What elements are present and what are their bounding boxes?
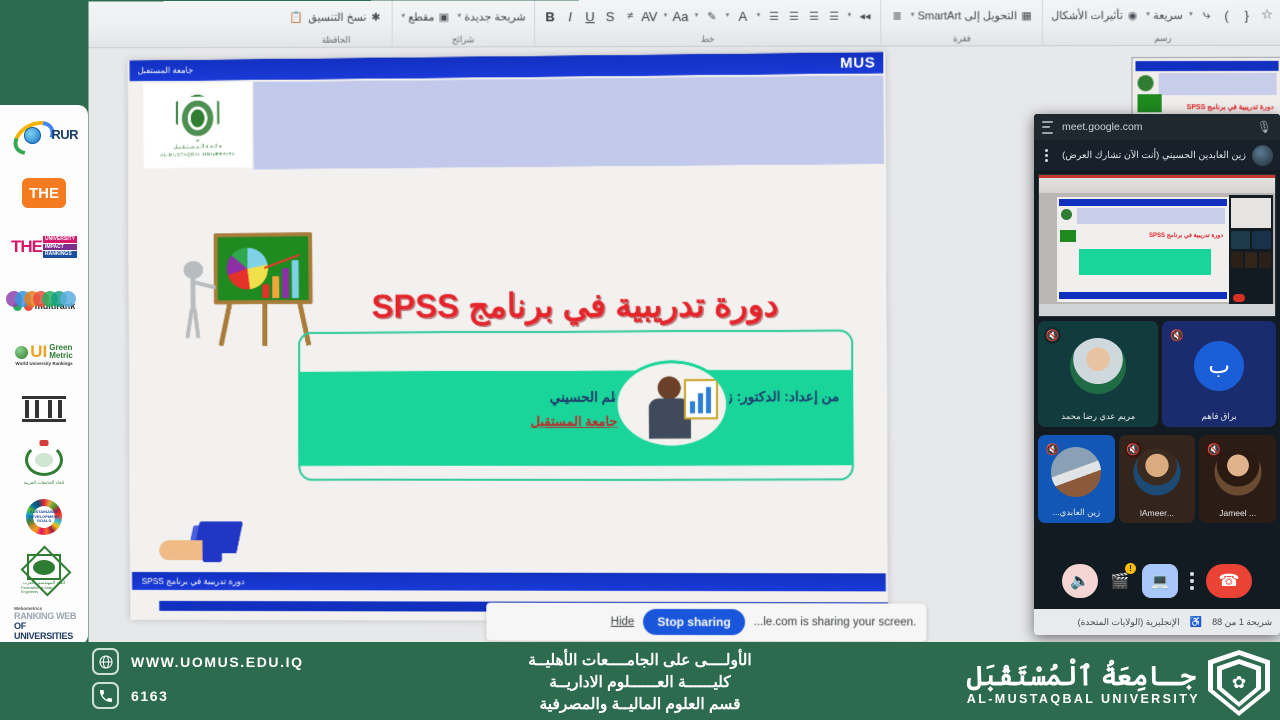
site-settings-icon[interactable] [1042,121,1055,134]
format-painter-button[interactable]: ✱ نسخ التنسيق [308,9,383,24]
participant-tile[interactable]: 🔇 زين العابدي... [1038,435,1115,523]
university-shield-icon: ✿ [1208,650,1270,716]
section-button[interactable]: ▣ مقطع ▼ [400,9,451,24]
participant-name: مريم عدي رضا محمد [1038,411,1158,422]
slide-university-logo: جـامعـة الـمـسـتـقـبـل AL-MUSTAQBAL UNIV… [143,82,251,168]
arab-universities-logo: اتحاد الجامعات العربية [8,439,80,487]
slide-header-badge: MUS [840,54,875,72]
presenter-avatar [1252,145,1273,166]
slide-blue-band [253,75,884,169]
temple-icon [8,385,80,433]
share-message: ...le.com is sharing your screen. [754,616,917,628]
slide-affiliation: جامعة المستقبل [298,413,853,430]
arab-universities-label: اتحاد الجامعات العربية [24,480,65,486]
shape-effects-icon: ◉ [1125,7,1140,22]
slide-logo-ar: جـامعـة الـمـسـتـقـبـل [173,143,222,149]
webometrics-w3: OF UNIVERSITIES [14,621,80,641]
stop-sharing-button[interactable]: Stop sharing [643,609,744,635]
shared-screen-preview[interactable]: دورة تدريبية في برنامج SPSS [1038,174,1276,317]
section-icon: ▣ [436,9,451,24]
shape-effects-button[interactable]: ◉ تأثيرات الأشكال [1051,7,1140,22]
shape-curve-icon[interactable]: { [1239,7,1254,22]
avatar [1134,448,1181,495]
avatar [1214,448,1261,495]
smartart-label: التحويل إلى SmartArt [918,9,1017,22]
participants-row-2: 🔇 زين العابدي... 🔇 ...lAmeer 🔇 ... Jamee… [1034,431,1280,527]
avatar [1051,447,1101,497]
powerpoint-status-bar: شريحة 1 من 88 ♿ الإنجليزية (الولايات الم… [1034,609,1280,635]
meet-url-text: meet.google.com [1062,121,1250,133]
ui-greenmetric-logo: UI Green Metric World University Ranking… [8,331,80,379]
the-impact-rankings-logo: THE UNIVERSITY IMPACT RANKINGS [8,223,80,271]
present-screen-button[interactable]: 💻 [1142,564,1178,598]
multirank-logo: multirank [8,277,80,325]
section-label: مقطع [408,10,434,23]
participants-row-1: 🔇 مريم عدي رضا محمد 🔇 ب براق فاهم [1034,317,1280,431]
ribbon-group-clipboard-label: الحافظة [322,35,350,48]
university-name-en: AL-MUSTAQBAL UNIVERSITY [967,692,1200,706]
paste-button[interactable]: 📋 [288,9,303,24]
align-left-icon[interactable]: ☰ [826,8,841,23]
mic-off-icon: 🔇 [1168,327,1185,344]
sdg-label: SUSTAINABLE DEVELOPMENT GOALS [29,510,59,524]
ribbon-group-drawing-label: رسم [1154,33,1171,46]
format-painter-label: نسخ التنسيق [308,10,366,23]
mic-toggle-button[interactable]: 🔈 [1062,564,1098,598]
slide-footer-text: دورة تدريبية في برنامج SPSS [142,576,245,587]
arab-engineers-logo: اتحاد المهندسين العرب Federation of Arab… [8,547,80,601]
greenmetric-sub: World University Rankings [15,361,72,366]
rtl-text-icon[interactable]: ◂◂ [857,8,872,23]
participant-tile[interactable]: 🔇 ... Jameel [1199,435,1276,523]
slide-footer-bar: دورة تدريبية في برنامج SPSS [132,572,886,591]
slide-header-right-text: جامعة المستقبل [138,65,194,77]
shape-effects-label: تأثيرات الأشكال [1051,8,1123,21]
align-right-icon[interactable]: ☰ [786,8,801,23]
current-slide[interactable]: جامعة المستقبل MUS جـامعـة الـمـسـتـقـبـ… [128,52,888,622]
hang-up-button[interactable]: ☎ [1206,564,1252,598]
sdg-goals-logo: SUSTAINABLE DEVELOPMENT GOALS [8,493,80,541]
shapes-gallery-icon[interactable]: ☆ [1259,7,1274,22]
text-shadow-icon[interactable]: S [603,9,618,24]
meet-control-bar: 🔈 ! 🎬 💻 ☎ [1034,555,1280,607]
convert-to-smartart-button[interactable]: ▦ التحويل إلى SmartArt ▼ [910,8,1034,23]
shapes-more-chevron-icon[interactable]: ▼ [1188,12,1194,18]
new-slide-button[interactable]: شريحة جديدة ▼ [456,10,525,23]
slide-count-label: شريحة 1 من 88 [1212,617,1272,628]
italic-icon[interactable]: I [563,9,578,24]
bold-icon[interactable]: B [543,9,558,24]
the-impact-line2: IMPACT [43,244,77,251]
shape-arrow-icon[interactable]: ⤷ [1199,7,1214,22]
the-logo: THE [8,169,80,217]
google-meet-window[interactable]: meet.google.com 🎙 زين العابدين الحسيني (… [1034,114,1280,635]
presenter-name: زين العابدين الحسيني (أنت الآن تشارك الع… [1058,150,1246,161]
university-brand: ✿ جـامِعَةُ ٱلْمُسْتَقْبَل AL-MUSTAQBAL … [967,650,1270,716]
mic-off-icon: 🔇 [1044,327,1061,344]
participant-tile[interactable]: 🔇 مريم عدي رضا محمد [1038,321,1158,427]
text-highlight-icon[interactable]: ✎ [704,8,719,23]
slide-author-banner: من إعداد: الدكتور: زين العابدين عبود كاظ… [298,370,854,466]
presenter-more-icon[interactable] [1041,149,1052,162]
rur-label: RUR [51,127,78,142]
align-center-icon[interactable]: ☰ [806,8,821,23]
participant-tile[interactable]: 🔇 ب براق فاهم [1162,321,1276,427]
ribbon-group-font-label: خط [701,34,714,47]
accessibility-icon[interactable]: ♿ [1190,617,1202,628]
font-color-icon[interactable]: A [735,8,750,23]
the-impact-line3: RANKINGS [43,251,77,258]
participant-name: زين العابدي... [1038,507,1115,518]
avatar [1070,338,1126,394]
meet-presenter-bar: زين العابدين الحسيني (أنت الآن تشارك الع… [1034,140,1280,170]
screen-share-notification: Hide Stop sharing ...le.com is sharing y… [486,603,926,642]
paste-icon: 📋 [288,9,303,24]
shared-preview-title: دورة تدريبية في برنامج SPSS [1149,232,1223,239]
camera-warning-badge: ! [1125,563,1136,574]
ribbon-group-slides-label: شرائح [452,34,474,47]
presenter-illustration [614,360,729,449]
the-impact-line1: UNIVERSITY [43,236,77,243]
ribbon-group-clipboard: ✱ نسخ التنسيق 📋 الحافظة [281,1,392,48]
ribbon-group-font: ◂◂ ▼ ☰ ☰ ☰ ☰ ▼ A ▼ ✎ ▼ Aa ▼ AV ≠ [534,0,881,47]
quick-styles-label: سريعة [1153,8,1183,21]
ribbon-group-paragraph-label: فقرة [953,33,971,46]
greenmetric-ui: UI [30,345,47,359]
avatar-initial: ب [1194,341,1244,391]
language-label[interactable]: الإنجليزية (الولايات المتحدة) [1078,617,1180,628]
screenshot-root: RUR THE THE UNIVERSITY IMPACT RANKINGS [0,0,1280,720]
clear-formatting-icon[interactable]: ≠ [623,9,638,24]
justify-icon[interactable]: ☰ [766,8,781,23]
more-options-button[interactable] [1186,572,1198,590]
participant-name: ...lAmeer [1119,508,1196,518]
meet-url-bar[interactable]: meet.google.com 🎙 [1034,114,1280,140]
format-painter-icon: ✱ [368,9,383,24]
ppt-ribbon: ☆ { ) ⤷ ▼ سريعة ▼ ◉ تأثيرات الأشكال [89,0,1280,48]
the-impact-mark: THE [11,237,42,257]
quick-styles-button[interactable]: سريعة ▼ [1145,8,1183,21]
slide-title: دورة تدريبية في برنامج SPSS [296,286,856,325]
the-label: THE [22,178,66,208]
participant-tile[interactable]: 🔇 ...lAmeer [1119,435,1196,523]
camera-toggle-button[interactable]: ! 🎬 [1106,566,1134,596]
webometrics-w2: RANKING WEB [14,611,80,621]
hand-book-illustration [159,519,248,569]
slide-logo-en: AL-MUSTAQBAL UNIVERSITY [160,151,235,157]
smartart-icon: ▦ [1019,8,1034,23]
rankings-sidebar: RUR THE THE UNIVERSITY IMPACT RANKINGS [0,105,88,645]
greenmetric-metric: Metric [49,352,73,360]
mini-preview-title: دورة تدريبية في برنامج SPSS [1187,103,1274,111]
shape-brace-icon[interactable]: ) [1219,7,1234,22]
character-spacing-icon[interactable]: AV [643,9,658,24]
presenter-figure-icon [180,261,210,342]
change-case-icon[interactable]: Aa [673,8,688,23]
ribbon-group-drawing: ☆ { ) ⤷ ▼ سريعة ▼ ◉ تأثيرات الأشكال [1042,0,1280,46]
shared-preview-meet-panel [1229,195,1273,306]
hide-sharing-link[interactable]: Hide [611,616,635,628]
align-text-icon[interactable]: ≣ [890,8,905,23]
ribbon-group-paragraph: ▦ التحويل إلى SmartArt ▼ ≣ فقرة [881,0,1043,47]
underline-icon[interactable]: U [583,9,598,24]
participant-name: براق فاهم [1162,411,1276,422]
participant-name: ... Jameel [1199,508,1276,518]
university-name-ar: جـامِعَةُ ٱلْمُسْتَقْبَل [967,661,1196,691]
microphone-permission-icon[interactable]: 🎙 [1257,120,1272,134]
rur-logo: RUR [8,115,80,163]
webometrics-logo: Webometrics RANKING WEB OF UNIVERSITIES [8,607,80,639]
ribbon-group-slides: شريحة جديدة ▼ ▣ مقطع ▼ شرائح [391,0,533,47]
new-slide-label: شريحة جديدة [464,10,525,23]
